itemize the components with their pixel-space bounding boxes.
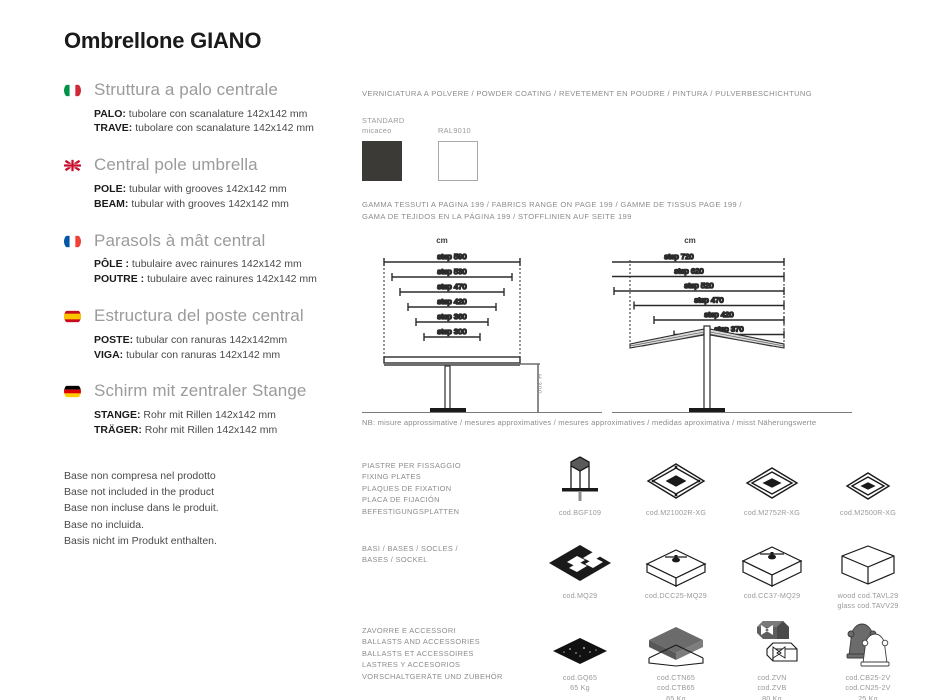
caption-line: PLAQUES DE FIXATION (362, 483, 527, 494)
step-dimension-label: step 590 (437, 252, 466, 261)
step-dimension-label: step 420 (437, 297, 466, 306)
swatch-label-line1: STANDARD (362, 116, 414, 126)
fabrics-note-line-2: GAMA DE TEJIDOS EN LA PÁGINA 199 / STOFF… (362, 211, 862, 222)
caption-line: PIASTRE PER FISSAGGIO (362, 460, 527, 471)
flag-spain-icon (64, 308, 81, 325)
swatch-label-line2: micaceo (362, 126, 414, 136)
language-section-1: Central pole umbrellaPOLE: tubular with … (64, 155, 364, 211)
right-column: VERNICIATURA A POLVERE / POWDER COATING … (362, 88, 862, 426)
accessory-code-line: 80 Kg (724, 694, 820, 700)
base-note-line: Base non incluse dans le produit. (64, 500, 364, 516)
accessory-code: cod.DCC25-MQ29 (628, 591, 724, 601)
ballasts-items: cod.GQ6565 Kgcod.CTN65cod.CTB6565 Kgcod.… (532, 615, 916, 700)
spec-label: PALO: (94, 108, 126, 120)
step-dimension-label: step 720 (664, 252, 693, 261)
base-note-line: Base not included in the product (64, 484, 364, 500)
caption-line: LASTRES Y ACCESORIOS (362, 659, 527, 670)
approximate-measures-note: NB: misure approssimative / mesures appr… (362, 418, 922, 427)
caption-line: VORSCHALTGERÄTE UND ZUBEHÖR (362, 671, 527, 682)
diamond-plate-large-icon (628, 450, 724, 504)
spec-line: BEAM: tubular with grooves 142x142 mm (94, 197, 364, 212)
accessory-code-line: 65 Kg (628, 694, 724, 700)
diamond-plate-small-icon (820, 450, 916, 504)
caption-line: ZAVORRE E ACCESSORI (362, 625, 527, 636)
accessory-item[interactable]: cod.CB25-2Vcod.CN25-2V25 Kg (820, 615, 916, 700)
color-swatch[interactable] (362, 141, 402, 181)
accessory-code-line: 65 Kg (532, 683, 628, 693)
flag-germany-icon (64, 383, 81, 400)
fixing-plates-items: cod.BGF109cod.M21002R-XGcod.M2752R-XGcod… (532, 450, 916, 518)
step-dimension-label: step 470 (437, 282, 466, 291)
caption-line: BALLASTS AND ACCESSORIES (362, 636, 527, 647)
accessory-code: cod.BGF109 (532, 508, 628, 518)
spec-line: PÔLE : tubulaire avec rainures 142x142 m… (94, 257, 364, 272)
cross-base-icon (532, 533, 628, 587)
accessory-code: cod.CC37-MQ29 (724, 591, 820, 601)
spec-line: TRÄGER: Rohr mit Rillen 142x142 mm (94, 423, 364, 438)
deep-box-base-icon (724, 533, 820, 587)
accessory-code-line: cod.ZVN (724, 673, 820, 683)
spec-line: STANGE: Rohr mit Rillen 142x142 mm (94, 408, 364, 423)
fabrics-note-line-1: GAMMA TESSUTI A PAGINA 199 / FABRICS RAN… (362, 199, 862, 210)
caption-line: BEFESTIGUNGSPLATTEN (362, 506, 527, 517)
spec-label: POUTRE : (94, 273, 144, 285)
color-swatch[interactable] (438, 141, 478, 181)
accessory-item[interactable]: cod.M21002R-XG (628, 450, 724, 518)
accessory-code-line: cod.CB25-2V (820, 673, 916, 683)
bell-ballast-icon (820, 615, 916, 669)
accessory-item[interactable]: cod.M2500R-XG (820, 450, 916, 518)
catalog-page: Ombrellone GIANO Struttura a palo centra… (0, 0, 933, 700)
language-section-3: Estructura del poste centralPOSTE: tubul… (64, 306, 364, 362)
language-heading: Central pole umbrella (94, 155, 364, 175)
spec-label: PÔLE : (94, 258, 129, 270)
flag-france-icon (64, 233, 81, 250)
accessory-item[interactable]: cod.M2752R-XG (724, 450, 820, 518)
accessory-code-line: cod.M2752R-XG (724, 508, 820, 518)
swatch-column-0: STANDARDmicaceo (362, 116, 414, 181)
rectangular-parasol-diagram: cm step 720step 620step 520step 470step … (612, 236, 852, 426)
swatch-label: RAL9010 (438, 116, 490, 136)
step-dimension-label: step 520 (684, 281, 713, 290)
spec-line: TRAVE: tubolare con scanalature 142x142 … (94, 121, 364, 136)
flag-uk-icon (64, 157, 81, 174)
anchor-plate-icon (532, 450, 628, 504)
spec-label: TRÄGER: (94, 424, 142, 436)
accessory-code-line: cod.CTN65 (628, 673, 724, 683)
granite-ballast-icon (532, 615, 628, 669)
accessory-code: wood cod.TAVL29glass cod.TAVV29 (820, 591, 916, 612)
accessory-code-line: 25 Kg (820, 694, 916, 700)
spec-label: TRAVE: (94, 122, 132, 134)
step-dimension-label: step 530 (437, 267, 466, 276)
page-title: Ombrellone GIANO (64, 28, 364, 54)
accessory-item[interactable]: cod.CTN65cod.CTB6565 Kg (628, 615, 724, 700)
accessory-code-line: cod.DCC25-MQ29 (628, 591, 724, 601)
accessory-code: cod.GQ6565 Kg (532, 673, 628, 694)
caption-line: PLACA DE FIJACIÓN (362, 494, 527, 505)
accessory-item[interactable]: cod.BGF109 (532, 450, 628, 518)
step-dimension-label: step 420 (704, 310, 733, 319)
base-not-included-note: Base non compresa nel prodottoBase not i… (64, 468, 364, 549)
swatch-label: STANDARDmicaceo (362, 116, 414, 136)
flat-box-base-icon (628, 533, 724, 587)
accessory-code-line: cod.GQ65 (532, 673, 628, 683)
spec-line: POUTRE : tubulaire avec rainures 142x142… (94, 272, 364, 287)
caption-line: BALLASTS ET ACCESSOIRES (362, 648, 527, 659)
spec-line: PALO: tubolare con scanalature 142x142 m… (94, 107, 364, 122)
accessory-code-line: cod.CTB65 (628, 683, 724, 693)
language-sections: Struttura a palo centralePALO: tubolare … (64, 80, 364, 438)
language-section-4: Schirm mit zentraler StangeSTANGE: Rohr … (64, 381, 364, 437)
spec-line: VIGA: tubular con ranuras 142x142 mm (94, 348, 364, 363)
language-heading: Parasols à mât central (94, 231, 364, 251)
step-dimension-label: step 300 (437, 327, 466, 336)
spec-label: BEAM: (94, 198, 128, 210)
powder-coating-header: VERNICIATURA A POLVERE / POWDER COATING … (362, 88, 862, 99)
accessory-item[interactable]: cod.GQ6565 Kg (532, 615, 628, 700)
base-note-line: Base non compresa nel prodotto (64, 468, 364, 484)
accessory-code-line: cod.MQ29 (532, 591, 628, 601)
spec-label: POSTE: (94, 334, 133, 346)
accessory-code-line: cod.BGF109 (532, 508, 628, 518)
accessory-item[interactable]: cod.DCC25-MQ29 (628, 533, 724, 612)
language-heading: Estructura del poste central (94, 306, 364, 326)
step-dimension-label: step 470 (694, 296, 723, 305)
base-note-line: Base no incluida. (64, 517, 364, 533)
caption-line: BASI / BASES / SOCLES / (362, 543, 527, 554)
accessory-code: cod.M2752R-XG (724, 508, 820, 518)
accessory-code-line: cod.CC37-MQ29 (724, 591, 820, 601)
fixing-plates-caption: PIASTRE PER FISSAGGIOFIXING PLATESPLAQUE… (362, 460, 527, 517)
accessory-code: cod.ZVNcod.ZVB80 Kg (724, 673, 820, 700)
swatch-label-line1 (438, 116, 490, 126)
accessory-item[interactable]: cod.MQ29 (532, 533, 628, 612)
height-label-left: H 300 (535, 374, 542, 394)
accessory-item[interactable]: cod.CC37-MQ29 (724, 533, 820, 612)
cm-unit-label-left: cm (422, 236, 462, 245)
spec-label: POLE: (94, 183, 126, 195)
accessory-code-line: cod.CN25-2V (820, 683, 916, 693)
accessory-code-line: cod.M2500R-XG (820, 508, 916, 518)
language-heading: Schirm mit zentraler Stange (94, 381, 364, 401)
swatch-column-1: RAL9010 (438, 116, 490, 181)
dimension-diagrams: cm step 590step 530step 470step 420step … (362, 236, 862, 426)
square-parasol-diagram: cm step 590step 530step 470step 420step … (362, 236, 602, 426)
caption-line: FIXING PLATES (362, 471, 527, 482)
table-base-icon (820, 533, 916, 587)
spec-line: POSTE: tubular con ranuras 142x142mm (94, 333, 364, 348)
accessory-code: cod.M21002R-XG (628, 508, 724, 518)
bases-caption: BASI / BASES / SOCLES /BASES / SOCKEL (362, 543, 527, 566)
accessory-code-line: cod.ZVB (724, 683, 820, 693)
spec-line: POLE: tubular with grooves 142x142 mm (94, 182, 364, 197)
swatch-label-line2: RAL9010 (438, 126, 490, 136)
fabrics-range-note: GAMMA TESSUTI A PAGINA 199 / FABRICS RAN… (362, 199, 862, 222)
base-note-line: Basis nicht im Produkt enthalten. (64, 533, 364, 549)
flag-italy-icon (64, 82, 81, 99)
spec-label: VIGA: (94, 349, 123, 361)
step-dimension-label: step 360 (437, 312, 466, 321)
language-section-0: Struttura a palo centralePALO: tubolare … (64, 80, 364, 136)
accessory-code: cod.CTN65cod.CTB6565 Kg (628, 673, 724, 700)
spec-label: STANGE: (94, 409, 140, 421)
accessory-item[interactable]: wood cod.TAVL29glass cod.TAVV29 (820, 533, 916, 612)
step-dimension-label: step 620 (674, 267, 703, 276)
accessory-code: cod.MQ29 (532, 591, 628, 601)
color-swatches: STANDARDmicaceo RAL9010 (362, 116, 862, 181)
cm-unit-label-right: cm (670, 236, 710, 245)
accessory-code-line: cod.M21002R-XG (628, 508, 724, 518)
bases-items: cod.MQ29cod.DCC25-MQ29cod.CC37-MQ29wood … (532, 533, 916, 612)
accessory-code: cod.CB25-2Vcod.CN25-2V25 Kg (820, 673, 916, 700)
accessory-item[interactable]: cod.ZVNcod.ZVB80 Kg (724, 615, 820, 700)
accessory-code-line: wood cod.TAVL29 (820, 591, 916, 601)
language-section-2: Parasols à mât centralPÔLE : tubulaire a… (64, 231, 364, 287)
language-heading: Struttura a palo centrale (94, 80, 364, 100)
cube-ballast-icon (724, 615, 820, 669)
left-column: Ombrellone GIANO Struttura a palo centra… (64, 28, 364, 549)
concrete-slab-ballast-icon (628, 615, 724, 669)
diamond-plate-medium-icon (724, 450, 820, 504)
accessory-code-line: glass cod.TAVV29 (820, 601, 916, 611)
caption-line: BASES / SOCKEL (362, 554, 527, 565)
accessory-code: cod.M2500R-XG (820, 508, 916, 518)
ballasts-caption: ZAVORRE E ACCESSORIBALLASTS AND ACCESSOR… (362, 625, 527, 682)
